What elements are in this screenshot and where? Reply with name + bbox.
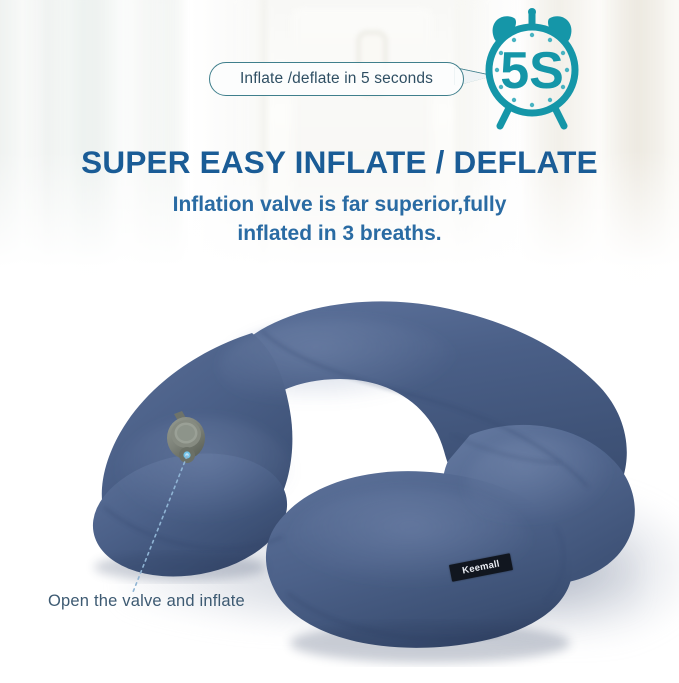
subheadline: Inflation valve is far superior,fully in…	[0, 190, 679, 248]
callout-bubble-label: Inflate /deflate in 5 seconds	[240, 70, 433, 88]
subheadline-line-2: inflated in 3 breaths.	[0, 219, 679, 248]
subheadline-line-1: Inflation valve is far superior,fully	[0, 190, 679, 219]
product-marketing-image: Inflate /deflate in 5 seconds	[0, 0, 679, 683]
callout-bubble: Inflate /deflate in 5 seconds	[209, 62, 464, 96]
alarm-clock-icon: 5S	[472, 4, 592, 132]
annotation-leader-line	[100, 440, 220, 610]
headline: SUPER EASY INFLATE / DEFLATE	[0, 144, 679, 181]
annotation-caption: Open the valve and inflate	[48, 592, 245, 611]
clock-badge-label: 5S	[500, 42, 564, 100]
